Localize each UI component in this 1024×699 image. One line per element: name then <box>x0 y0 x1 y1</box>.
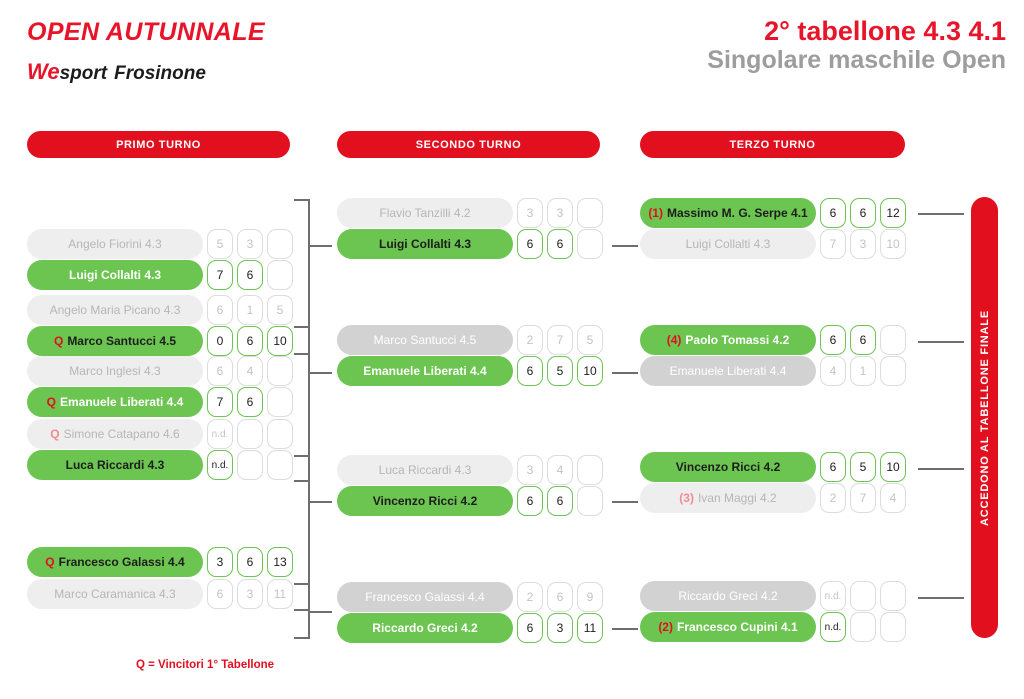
bracket-row[interactable]: (3)Ivan Maggi 4.2274 <box>640 483 916 513</box>
seed-badge: (2) <box>658 620 673 634</box>
set-score-box: 9 <box>577 582 603 612</box>
bracket-title: 2° tabellone 4.3 4.1 <box>707 16 1006 46</box>
brand-logo-sport: sport <box>60 63 108 84</box>
seed-badge: (3) <box>679 491 694 505</box>
set-score-box: 2 <box>820 483 846 513</box>
set-score-box: 3 <box>547 198 573 228</box>
player-name-label: Ivan Maggi 4.2 <box>698 491 777 505</box>
set-score-box: 0 <box>207 326 233 356</box>
set-scores: n.d. <box>820 612 906 642</box>
set-score-box: 11 <box>577 613 603 643</box>
seed-badge: (1) <box>648 206 663 220</box>
event-title: OPEN AUTUNNALE <box>27 18 265 47</box>
set-score-box: 2 <box>517 325 543 355</box>
player-name-label: Francesco Galassi 4.4 <box>365 590 484 604</box>
set-scores: 66 <box>820 325 906 355</box>
set-score-box: 6 <box>820 452 846 482</box>
bracket-row[interactable]: Emanuele Liberati 4.441 <box>640 356 916 386</box>
set-score-box: 4 <box>547 455 573 485</box>
bracket-row[interactable]: QFrancesco Galassi 4.43613 <box>27 547 303 577</box>
set-score-box: 5 <box>267 295 293 325</box>
player-name-label: Angelo Fiorini 4.3 <box>68 237 161 251</box>
set-score-box <box>267 356 293 386</box>
player-name-loser[interactable]: (3)Ivan Maggi 4.2 <box>640 483 816 513</box>
set-score-box: 6 <box>547 486 573 516</box>
player-name-winner[interactable]: (2)Francesco Cupini 4.1 <box>640 612 816 642</box>
set-scores: n.d. <box>207 419 293 449</box>
bracket-heading: 2° tabellone 4.3 4.1 Singolare maschile … <box>707 16 1006 74</box>
player-name-loser[interactable]: Angelo Maria Picano 4.3 <box>27 295 203 325</box>
set-score-box <box>880 356 906 386</box>
set-score-box: 6 <box>237 547 263 577</box>
player-name-label: Emanuele Liberati 4.4 <box>363 364 486 378</box>
set-score-box: 6 <box>207 295 233 325</box>
set-scores: 66 <box>517 229 603 259</box>
set-score-box: 13 <box>267 547 293 577</box>
bracket-subtitle: Singolare maschile Open <box>707 46 1006 74</box>
bracket-row[interactable]: (4)Paolo Tomassi 4.266 <box>640 325 916 355</box>
set-score-box: 6 <box>237 326 263 356</box>
player-name-label: Emanuele Liberati 4.4 <box>60 395 183 409</box>
brand-logo-city: Frosinone <box>114 63 206 84</box>
set-score-box: 7 <box>207 260 233 290</box>
set-score-box <box>880 581 906 611</box>
set-scores: 7310 <box>820 229 906 259</box>
set-score-box: 6 <box>517 356 543 386</box>
set-score-box <box>237 450 263 480</box>
set-score-box: 6 <box>237 260 263 290</box>
player-name-loser[interactable]: Flavio Tanzilli 4.2 <box>337 198 513 228</box>
set-scores: 53 <box>207 229 293 259</box>
set-score-box: n.d. <box>820 581 846 611</box>
bracket-row[interactable]: Marco Inglesi 4.364 <box>27 356 303 386</box>
set-score-box <box>237 419 263 449</box>
bracket-line <box>612 245 638 247</box>
set-scores: 6311 <box>517 613 603 643</box>
set-score-box: 7 <box>207 387 233 417</box>
player-name-label: Luigi Collalti 4.3 <box>686 237 771 251</box>
set-score-box: 4 <box>237 356 263 386</box>
set-score-box: 12 <box>880 198 906 228</box>
bracket-line <box>612 628 638 630</box>
set-score-box <box>880 325 906 355</box>
set-score-box: 5 <box>547 356 573 386</box>
set-score-box: 6 <box>207 579 233 609</box>
set-score-box: 6 <box>820 325 846 355</box>
set-score-box: 6 <box>517 613 543 643</box>
player-name-winner[interactable]: QMarco Santucci 4.5 <box>27 326 203 356</box>
set-score-box: 7 <box>820 229 846 259</box>
set-score-box <box>267 387 293 417</box>
set-score-box: 5 <box>577 325 603 355</box>
bracket-line <box>918 341 964 343</box>
set-scores: 64 <box>207 356 293 386</box>
bracket-row[interactable]: (1)Massimo M. G. Serpe 4.16612 <box>640 198 916 228</box>
qualifier-badge: Q <box>54 334 63 348</box>
set-score-box: n.d. <box>207 419 233 449</box>
set-score-box: 7 <box>547 325 573 355</box>
player-name-loser[interactable]: Francesco Galassi 4.4 <box>337 582 513 612</box>
player-name-label: Simone Catapano 4.6 <box>64 427 180 441</box>
set-score-box <box>267 450 293 480</box>
set-scores: 76 <box>207 260 293 290</box>
legend-note: Q = Vincitori 1° Tabellone <box>136 659 274 671</box>
set-score-box: 3 <box>547 613 573 643</box>
set-score-box: 3 <box>237 229 263 259</box>
set-score-box <box>880 612 906 642</box>
player-name-label: Marco Santucci 4.5 <box>374 333 477 347</box>
page-header: OPEN AUTUNNALE WesportFrosinone 2° tabel… <box>0 0 1024 120</box>
brand-logo: WesportFrosinone <box>27 59 206 85</box>
set-scores: 274 <box>820 483 906 513</box>
qualifier-badge: Q <box>45 555 54 569</box>
player-name-loser[interactable]: Riccardo Greci 4.2 <box>640 581 816 611</box>
set-score-box: 6 <box>517 229 543 259</box>
set-scores: n.d. <box>207 450 293 480</box>
set-score-box: 6 <box>850 325 876 355</box>
round-header-secondo-turno: SECONDO TURNO <box>337 131 600 158</box>
set-score-box <box>267 419 293 449</box>
seed-badge: (4) <box>667 333 682 347</box>
player-name-label: Vincenzo Ricci 4.2 <box>373 494 478 508</box>
qualifier-badge: Q <box>50 427 59 441</box>
set-score-box: 1 <box>237 295 263 325</box>
set-score-box: 6 <box>547 582 573 612</box>
set-score-box: 3 <box>237 579 263 609</box>
set-score-box: 7 <box>850 483 876 513</box>
set-score-box <box>577 229 603 259</box>
set-score-box: 6 <box>850 198 876 228</box>
set-score-box: n.d. <box>820 612 846 642</box>
player-name-winner[interactable]: Vincenzo Ricci 4.2 <box>640 452 816 482</box>
set-score-box: 10 <box>267 326 293 356</box>
set-score-box: 5 <box>850 452 876 482</box>
set-scores: 6612 <box>820 198 906 228</box>
bracket-line <box>918 597 964 599</box>
set-score-box: 4 <box>880 483 906 513</box>
set-scores: 0610 <box>207 326 293 356</box>
player-name-label: Marco Santucci 4.5 <box>67 334 176 348</box>
bracket-row[interactable]: Emanuele Liberati 4.46510 <box>337 356 613 386</box>
set-score-box <box>267 229 293 259</box>
set-score-box: 6 <box>820 198 846 228</box>
player-name-winner[interactable]: QFrancesco Galassi 4.4 <box>27 547 203 577</box>
final-stage-banner: ACCEDONO AL TABELLONE FINALE <box>971 197 998 638</box>
player-name-winner[interactable]: QEmanuele Liberati 4.4 <box>27 387 203 417</box>
player-name-label: Francesco Cupini 4.1 <box>677 620 798 634</box>
player-name-label: Luca Riccardi 4.3 <box>379 463 472 477</box>
bracket-row[interactable]: Riccardo Greci 4.2n.d. <box>640 581 916 611</box>
player-name-label: Angelo Maria Picano 4.3 <box>50 303 181 317</box>
set-score-box: 6 <box>237 387 263 417</box>
player-name-label: Luigi Collalti 4.3 <box>69 268 161 282</box>
bracket-row[interactable]: Francesco Galassi 4.4269 <box>337 582 613 612</box>
set-score-box: 6 <box>517 486 543 516</box>
player-name-label: Francesco Galassi 4.4 <box>59 555 185 569</box>
player-name-winner[interactable]: Riccardo Greci 4.2 <box>337 613 513 643</box>
set-scores: 76 <box>207 387 293 417</box>
player-name-loser[interactable]: Marco Caramanica 4.3 <box>27 579 203 609</box>
set-score-box: 3 <box>517 455 543 485</box>
player-name-loser[interactable]: Emanuele Liberati 4.4 <box>640 356 816 386</box>
player-name-label: Riccardo Greci 4.2 <box>678 589 777 603</box>
bracket-row[interactable]: Luigi Collalti 4.37310 <box>640 229 916 259</box>
set-score-box: 3 <box>517 198 543 228</box>
set-scores: 275 <box>517 325 603 355</box>
bracket-line <box>612 501 638 503</box>
bracket-row[interactable]: QSimone Catapano 4.6n.d. <box>27 419 303 449</box>
set-score-box: 5 <box>207 229 233 259</box>
round-header-terzo-turno: TERZO TURNO <box>640 131 905 158</box>
set-score-box <box>577 455 603 485</box>
set-scores: 3613 <box>207 547 293 577</box>
player-name-label: Paolo Tomassi 4.2 <box>685 333 789 347</box>
qualifier-badge: Q <box>47 395 56 409</box>
bracket-row[interactable]: Luca Riccardi 4.334 <box>337 455 613 485</box>
player-name-label: Emanuele Liberati 4.4 <box>670 364 787 378</box>
player-name-winner[interactable]: Emanuele Liberati 4.4 <box>337 356 513 386</box>
player-name-loser[interactable]: Angelo Fiorini 4.3 <box>27 229 203 259</box>
set-scores: 34 <box>517 455 603 485</box>
set-score-box: 11 <box>267 579 293 609</box>
bracket-row[interactable]: (2)Francesco Cupini 4.1n.d. <box>640 612 916 642</box>
bracket-line <box>612 372 638 374</box>
player-name-winner[interactable]: Luigi Collalti 4.3 <box>337 229 513 259</box>
bracket-row[interactable]: Vincenzo Ricci 4.26510 <box>640 452 916 482</box>
player-name-label: Flavio Tanzilli 4.2 <box>379 206 470 220</box>
player-name-label: Marco Caramanica 4.3 <box>54 587 175 601</box>
bracket-row[interactable]: Luigi Collalti 4.376 <box>27 260 303 290</box>
round-header-primo-turno: PRIMO TURNO <box>27 131 290 158</box>
player-name-label: Riccardo Greci 4.2 <box>372 621 477 635</box>
player-name-loser[interactable]: Luca Riccardi 4.3 <box>337 455 513 485</box>
player-name-winner[interactable]: (4)Paolo Tomassi 4.2 <box>640 325 816 355</box>
brand-logo-we: We <box>27 59 60 84</box>
set-score-box: 2 <box>517 582 543 612</box>
set-score-box <box>267 260 293 290</box>
player-name-label: Vincenzo Ricci 4.2 <box>676 460 781 474</box>
set-scores: 615 <box>207 295 293 325</box>
set-score-box: 10 <box>577 356 603 386</box>
bracket-row[interactable]: Angelo Fiorini 4.353 <box>27 229 303 259</box>
set-score-box <box>850 612 876 642</box>
bracket-row[interactable]: QMarco Santucci 4.50610 <box>27 326 303 356</box>
set-score-box: 4 <box>820 356 846 386</box>
bracket-row[interactable]: QEmanuele Liberati 4.476 <box>27 387 303 417</box>
set-score-box <box>577 198 603 228</box>
player-name-label: Marco Inglesi 4.3 <box>69 364 160 378</box>
set-scores: 41 <box>820 356 906 386</box>
set-score-box <box>850 581 876 611</box>
bracket-row[interactable]: Marco Santucci 4.5275 <box>337 325 613 355</box>
set-score-box <box>577 486 603 516</box>
set-score-box: 3 <box>207 547 233 577</box>
player-name-loser[interactable]: Marco Santucci 4.5 <box>337 325 513 355</box>
player-name-label: Luigi Collalti 4.3 <box>379 237 471 251</box>
bracket-row[interactable]: Marco Caramanica 4.36311 <box>27 579 303 609</box>
player-name-label: Luca Riccardi 4.3 <box>66 458 165 472</box>
set-scores: 269 <box>517 582 603 612</box>
set-score-box: 3 <box>850 229 876 259</box>
player-name-loser[interactable]: Luigi Collalti 4.3 <box>640 229 816 259</box>
set-score-box: 10 <box>880 229 906 259</box>
bracket-line <box>918 213 964 215</box>
player-name-loser[interactable]: Marco Inglesi 4.3 <box>27 356 203 386</box>
set-scores: n.d. <box>820 581 906 611</box>
bracket-row[interactable]: Luigi Collalti 4.366 <box>337 229 613 259</box>
set-scores: 6510 <box>517 356 603 386</box>
player-name-winner[interactable]: Vincenzo Ricci 4.2 <box>337 486 513 516</box>
set-score-box: 1 <box>850 356 876 386</box>
set-score-box: 6 <box>207 356 233 386</box>
set-score-box: n.d. <box>207 450 233 480</box>
set-scores: 6311 <box>207 579 293 609</box>
bracket-row[interactable]: Luca Riccardi 4.3n.d. <box>27 450 303 480</box>
player-name-winner[interactable]: Luca Riccardi 4.3 <box>27 450 203 480</box>
set-scores: 33 <box>517 198 603 228</box>
bracket-row[interactable]: Flavio Tanzilli 4.233 <box>337 198 613 228</box>
player-name-winner[interactable]: (1)Massimo M. G. Serpe 4.1 <box>640 198 816 228</box>
bracket-line <box>918 468 964 470</box>
set-scores: 66 <box>517 486 603 516</box>
bracket-row[interactable]: Riccardo Greci 4.26311 <box>337 613 613 643</box>
bracket-row[interactable]: Vincenzo Ricci 4.266 <box>337 486 613 516</box>
set-score-box: 10 <box>880 452 906 482</box>
final-stage-label: ACCEDONO AL TABELLONE FINALE <box>979 310 991 526</box>
player-name-winner[interactable]: Luigi Collalti 4.3 <box>27 260 203 290</box>
bracket-row[interactable]: Angelo Maria Picano 4.3615 <box>27 295 303 325</box>
player-name-loser[interactable]: QSimone Catapano 4.6 <box>27 419 203 449</box>
set-scores: 6510 <box>820 452 906 482</box>
set-score-box: 6 <box>547 229 573 259</box>
player-name-label: Massimo M. G. Serpe 4.1 <box>667 206 808 220</box>
